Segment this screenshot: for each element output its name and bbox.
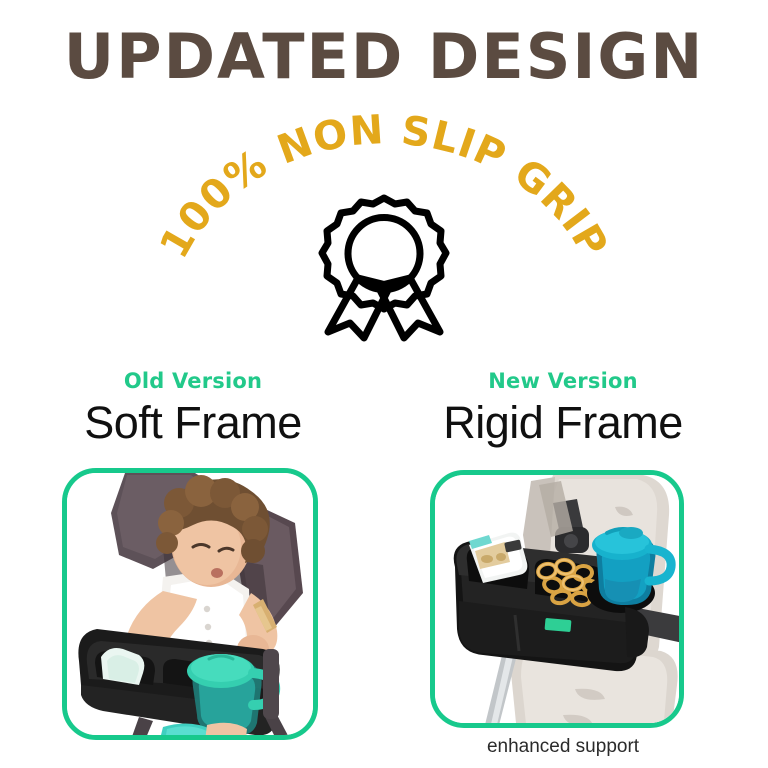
old-version-photo-frame	[62, 468, 318, 740]
stroller-child-scene	[67, 473, 313, 735]
award-rosette-ribbon-icon	[306, 190, 462, 342]
column-old-version: Old Version Soft Frame	[28, 370, 358, 446]
column-new-version: New Version Rigid Frame	[398, 370, 728, 446]
old-version-subtitle: Old Version	[28, 370, 358, 393]
page-title: UPDATED DESIGN	[0, 24, 768, 89]
promo-graphic: UPDATED DESIGN 100% NON SLIP GRIP	[0, 0, 768, 768]
new-version-subtitle: New Version	[398, 370, 728, 393]
non-slip-badge-block: 100% NON SLIP GRIP	[154, 128, 614, 353]
new-version-photo	[435, 475, 679, 723]
rigid-tray-scene	[435, 475, 679, 723]
old-version-photo	[67, 473, 313, 735]
old-version-title: Soft Frame	[28, 399, 358, 446]
new-version-photo-frame	[430, 470, 684, 728]
new-version-title: Rigid Frame	[398, 399, 728, 446]
enhanced-support-caption: enhanced support	[398, 736, 728, 758]
